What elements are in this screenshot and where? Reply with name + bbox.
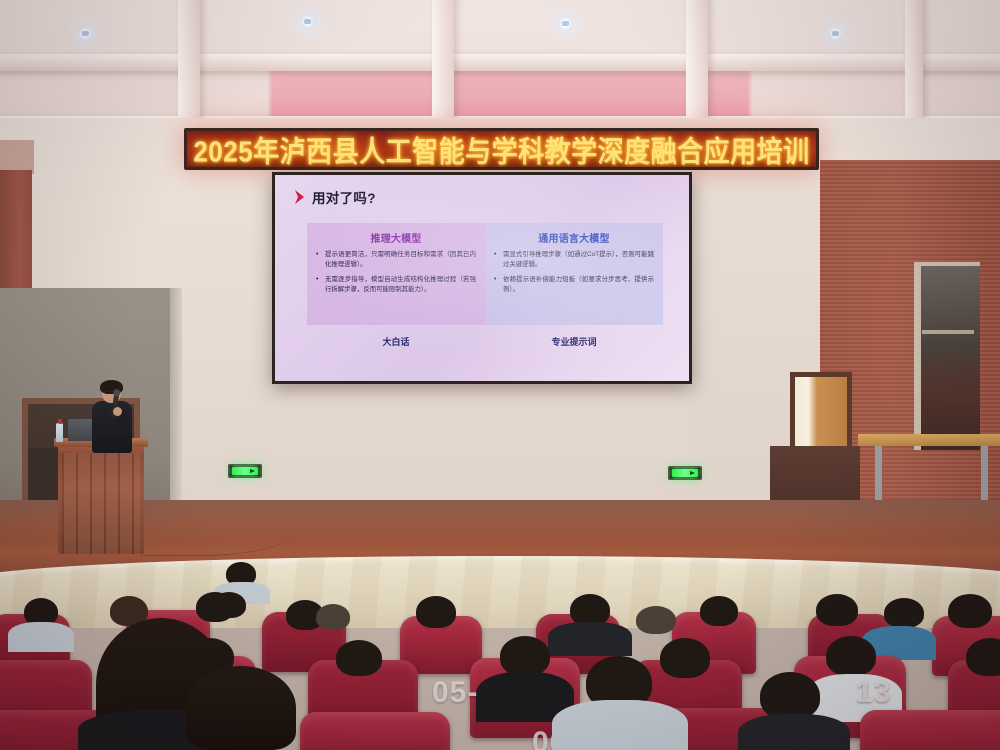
slide-title: 用对了吗? <box>312 187 376 207</box>
audience-head <box>826 636 876 676</box>
ceiling-downlight <box>78 26 93 41</box>
audience-head <box>700 596 738 626</box>
slide-columns: 推理大模型 提示语更简洁，只需明确任务目标和需求（因其已内化推理逻辑）。 无需逐… <box>307 223 663 325</box>
auditorium-photo: 2025年泸西县人工智能与学科教学深度融合应用培训 用对了吗? 推理大模型 提示… <box>0 0 1000 750</box>
led-banner: 2025年泸西县人工智能与学科教学深度融合应用培训 <box>184 128 819 170</box>
exit-icon <box>232 467 258 475</box>
audience-head <box>316 604 350 630</box>
audience-head <box>884 598 924 628</box>
audience-shoulders <box>548 622 632 656</box>
audience-shoulders <box>738 714 850 750</box>
water-bottle <box>56 423 63 442</box>
ceiling-beam <box>905 0 923 128</box>
bullet-item: 提示语更简洁，只需明确任务目标和需求（因其已内化推理逻辑）。 <box>316 250 476 271</box>
slide-column-general-llm: 通用语言大模型 需显式引导推理步骤（如通过CoT提示），否则可能跳过关键逻辑。 … <box>485 223 663 325</box>
bullet-item: 无需逐步指导，模型自动生成结构化推理过程（若强行拆解步骤，反而可能限制其能力）。 <box>316 275 476 296</box>
seat-label: 13 <box>856 676 891 710</box>
audience-shoulders <box>8 622 74 652</box>
window-mullion <box>922 330 974 334</box>
audience-head <box>336 640 382 676</box>
side-table <box>858 434 1000 446</box>
slide-column-reasoning-model: 推理大模型 提示语更简洁，只需明确任务目标和需求（因其已内化推理逻辑）。 无需逐… <box>307 223 485 325</box>
ceiling-downlight <box>558 16 573 31</box>
auditorium-seat <box>860 710 1000 750</box>
ceiling-beam <box>0 54 1000 71</box>
slide-footers: 大白话 专业提示词 <box>307 335 663 348</box>
audience-seating: 05- 13 06-12 <box>0 560 1000 750</box>
audience-long-hair <box>186 666 296 750</box>
projection-screen: 用对了吗? 推理大模型 提示语更简洁，只需明确任务目标和需求（因其已内化推理逻辑… <box>272 172 692 384</box>
ceiling-downlight <box>828 26 843 41</box>
audience-head <box>416 596 456 628</box>
audience-head <box>636 606 676 634</box>
audience-shoulders <box>552 700 688 750</box>
ceiling-beam <box>178 0 200 128</box>
column-heading: 推理大模型 <box>316 230 476 245</box>
podium <box>58 444 144 554</box>
audience-head <box>816 594 858 626</box>
wall-corner <box>0 140 34 174</box>
presenter-hand <box>113 407 122 416</box>
audience-head <box>660 638 710 678</box>
ceiling-downlight <box>300 14 315 29</box>
bullet-item: 依赖提示语补偿能力短板（如要求分步思考、提供示例）。 <box>494 275 654 296</box>
bullet-list: 需显式引导推理步骤（如通过CoT提示），否则可能跳过关键逻辑。 依赖提示语补偿能… <box>494 250 654 296</box>
ceiling-beam <box>432 0 454 128</box>
exit-icon <box>672 469 698 477</box>
auditorium-seat <box>300 712 450 750</box>
exit-sign-left <box>228 464 262 478</box>
column-footer-left: 大白话 <box>307 335 485 348</box>
bullet-item: 需显式引导推理步骤（如通过CoT提示），否则可能跳过关键逻辑。 <box>494 250 654 271</box>
ceiling-beam <box>686 0 708 128</box>
column-heading: 通用语言大模型 <box>494 230 654 245</box>
audience-head <box>760 672 820 720</box>
podium-panel-texture <box>62 453 140 554</box>
bullet-list: 提示语更简洁，只需明确任务目标和需求（因其已内化推理逻辑）。 无需逐步指导，模型… <box>316 250 476 296</box>
exit-sign-right <box>668 466 702 480</box>
column-footer-right: 专业提示词 <box>485 335 663 348</box>
slide-title-row: 用对了吗? <box>293 187 376 207</box>
seat-label: 05- <box>432 676 478 710</box>
audience-head <box>196 592 234 622</box>
presenter <box>88 382 136 452</box>
side-window <box>914 262 980 450</box>
side-door-open <box>790 372 852 450</box>
slide-surface: 用对了吗? 推理大模型 提示语更简洁，只需明确任务目标和需求（因其已内化推理逻辑… <box>275 175 689 381</box>
side-low-wall <box>770 446 860 508</box>
led-banner-text: 2025年泸西县人工智能与学科教学深度融合应用培训 <box>193 128 809 169</box>
audience-head <box>500 636 550 676</box>
audience-head <box>966 638 1000 676</box>
audience-head <box>948 594 992 628</box>
ceiling <box>0 0 1000 128</box>
chevron-right-icon <box>293 189 306 205</box>
